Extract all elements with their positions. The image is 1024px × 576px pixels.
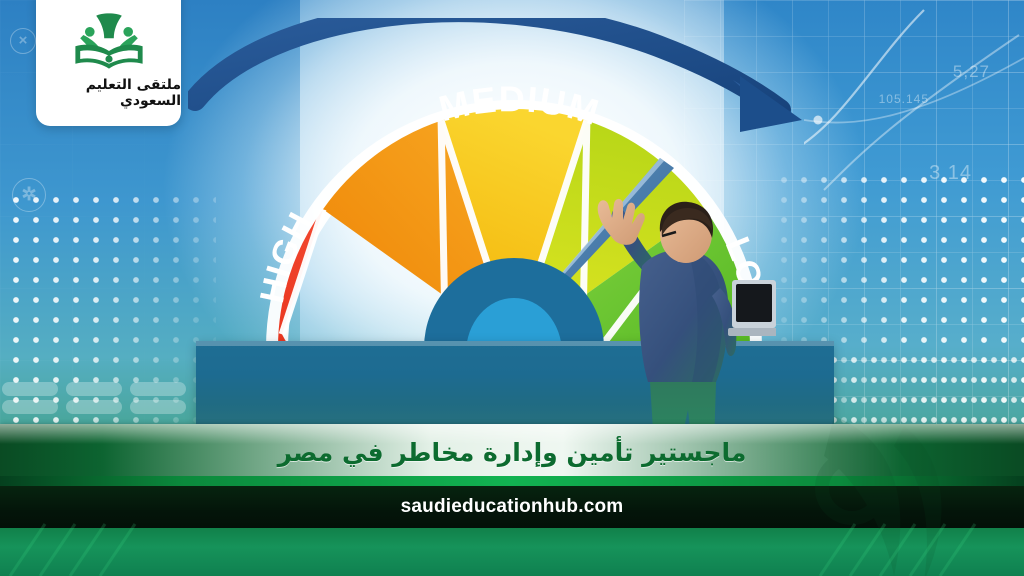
gear-circle-icon: ✲ xyxy=(12,178,46,212)
logo-arabic-text: ملتقى التعليم السعودي xyxy=(36,77,181,109)
blueprint-number-2: 105.145 xyxy=(879,92,929,106)
banner-title-text: ماجستير تأمين وإدارة مخاطر في مصر xyxy=(0,438,1024,467)
close-circle-icon: × xyxy=(10,28,36,54)
logo-mark-icon xyxy=(68,11,150,75)
brand-logo-card[interactable]: ملتقى التعليم السعودي xyxy=(36,0,181,126)
banner-canvas: 5,27 105.145 3,14 × ✲ × xyxy=(0,0,1024,576)
laptop-icon xyxy=(728,280,776,336)
businessman-figure xyxy=(596,196,776,446)
blueprint-number-1: 5,27 xyxy=(953,62,990,82)
